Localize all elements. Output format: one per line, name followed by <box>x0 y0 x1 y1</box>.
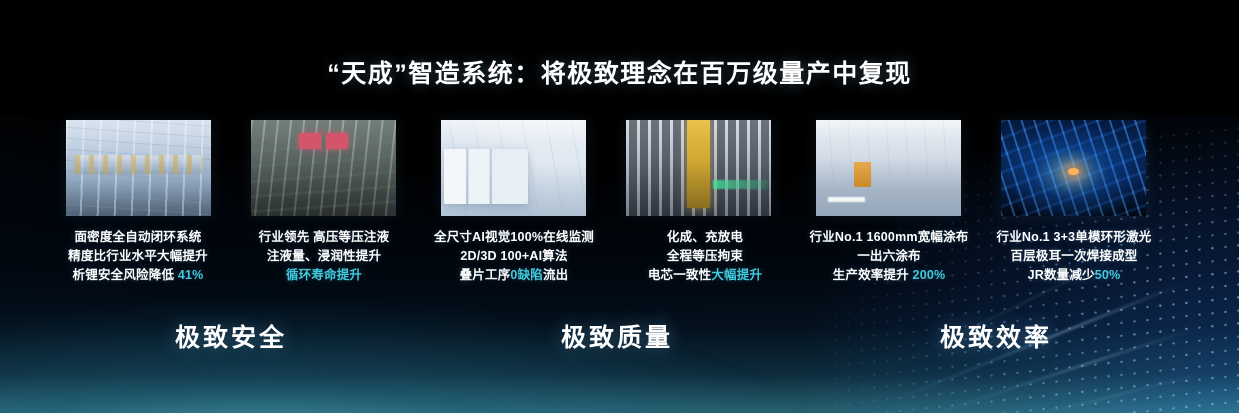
group-label-safety: 极致安全 <box>175 318 287 354</box>
photo-card <box>626 120 771 216</box>
group-label-quality: 极致质量 <box>561 318 673 354</box>
caption-block: 面密度全自动闭环系统 精度比行业水平大幅提升 析锂安全风险降低 41% <box>38 228 238 285</box>
caption-line: 面密度全自动闭环系统 <box>38 228 238 247</box>
caption-line: 行业No.1 3+3单模环形激光 <box>974 228 1174 247</box>
caption-highlight-line: JR数量减少50% <box>974 266 1174 285</box>
caption-prefix: 生产效率提升 <box>833 268 913 282</box>
formation-charge-discharge-warehouse-photo <box>626 120 771 216</box>
photo-card <box>1001 120 1146 216</box>
caption-line: 百层极耳一次焊接成型 <box>974 247 1174 266</box>
caption-block: 全尺寸AI视觉100%在线监测 2D/3D 100+AI算法 叠片工序0缺陷流出 <box>414 228 614 285</box>
caption-prefix: 电芯一致性 <box>648 268 712 282</box>
caption-block: 行业领先 高压等压注液 注液量、浸润性提升 循环寿命提升 <box>224 228 424 285</box>
page-title: “天成”智造系统：将极致理念在百万级量产中复现 <box>0 54 1239 90</box>
caption-accent: 循环寿命提升 <box>286 268 362 282</box>
caption-prefix: 叠片工序 <box>460 268 511 282</box>
caption-line: 行业No.1 1600mm宽幅涂布 <box>789 228 989 247</box>
ring-laser-tab-welding-photo <box>1001 120 1146 216</box>
group-label-efficiency: 极致效率 <box>940 318 1052 354</box>
automated-closed-loop-coating-line-photo <box>66 120 211 216</box>
caption-highlight-line: 析锂安全风险降低 41% <box>38 266 238 285</box>
caption-line: 2D/3D 100+AI算法 <box>414 247 614 266</box>
caption-line: 全程等压拘束 <box>605 247 805 266</box>
caption-highlight-line: 叠片工序0缺陷流出 <box>414 266 614 285</box>
caption-line: 一出六涂布 <box>789 247 989 266</box>
caption-prefix: 析锂安全风险降低 <box>73 268 178 282</box>
caption-suffix: 流出 <box>543 268 568 282</box>
caption-highlight-line: 生产效率提升 200% <box>789 266 989 285</box>
caption-line: 全尺寸AI视觉100%在线监测 <box>414 228 614 247</box>
caption-highlight-line: 循环寿命提升 <box>224 266 424 285</box>
caption-block: 行业No.1 3+3单模环形激光 百层极耳一次焊接成型 JR数量减少50% <box>974 228 1174 285</box>
photo-card <box>251 120 396 216</box>
caption-line: 注液量、浸润性提升 <box>224 247 424 266</box>
caption-prefix: JR数量减少 <box>1028 268 1095 282</box>
slide-root: “天成”智造系统：将极致理念在百万级量产中复现 面密度全自动闭环系统 精度比行业… <box>0 0 1239 413</box>
caption-block: 化成、充放电 全程等压拘束 电芯一致性大幅提升 <box>605 228 805 285</box>
caption-accent: 0缺陷 <box>510 268 543 282</box>
ai-vision-inspection-cleanroom-photo <box>441 120 586 216</box>
background-bottom-left-glow <box>0 293 867 413</box>
photo-card <box>441 120 586 216</box>
caption-block: 行业No.1 1600mm宽幅涂布 一出六涂布 生产效率提升 200% <box>789 228 989 285</box>
caption-accent: 50% <box>1095 268 1121 282</box>
caption-line: 化成、充放电 <box>605 228 805 247</box>
caption-accent: 大幅提升 <box>711 268 762 282</box>
wide-web-coating-workshop-photo <box>816 120 961 216</box>
caption-line: 行业领先 高压等压注液 <box>224 228 424 247</box>
caption-highlight-line: 电芯一致性大幅提升 <box>605 266 805 285</box>
high-pressure-isobaric-electrolyte-filling-photo <box>251 120 396 216</box>
caption-accent: 200% <box>913 268 946 282</box>
photo-strip <box>0 120 1239 220</box>
caption-accent: 41% <box>178 268 204 282</box>
photo-card <box>816 120 961 216</box>
photo-card <box>66 120 211 216</box>
caption-line: 精度比行业水平大幅提升 <box>38 247 238 266</box>
